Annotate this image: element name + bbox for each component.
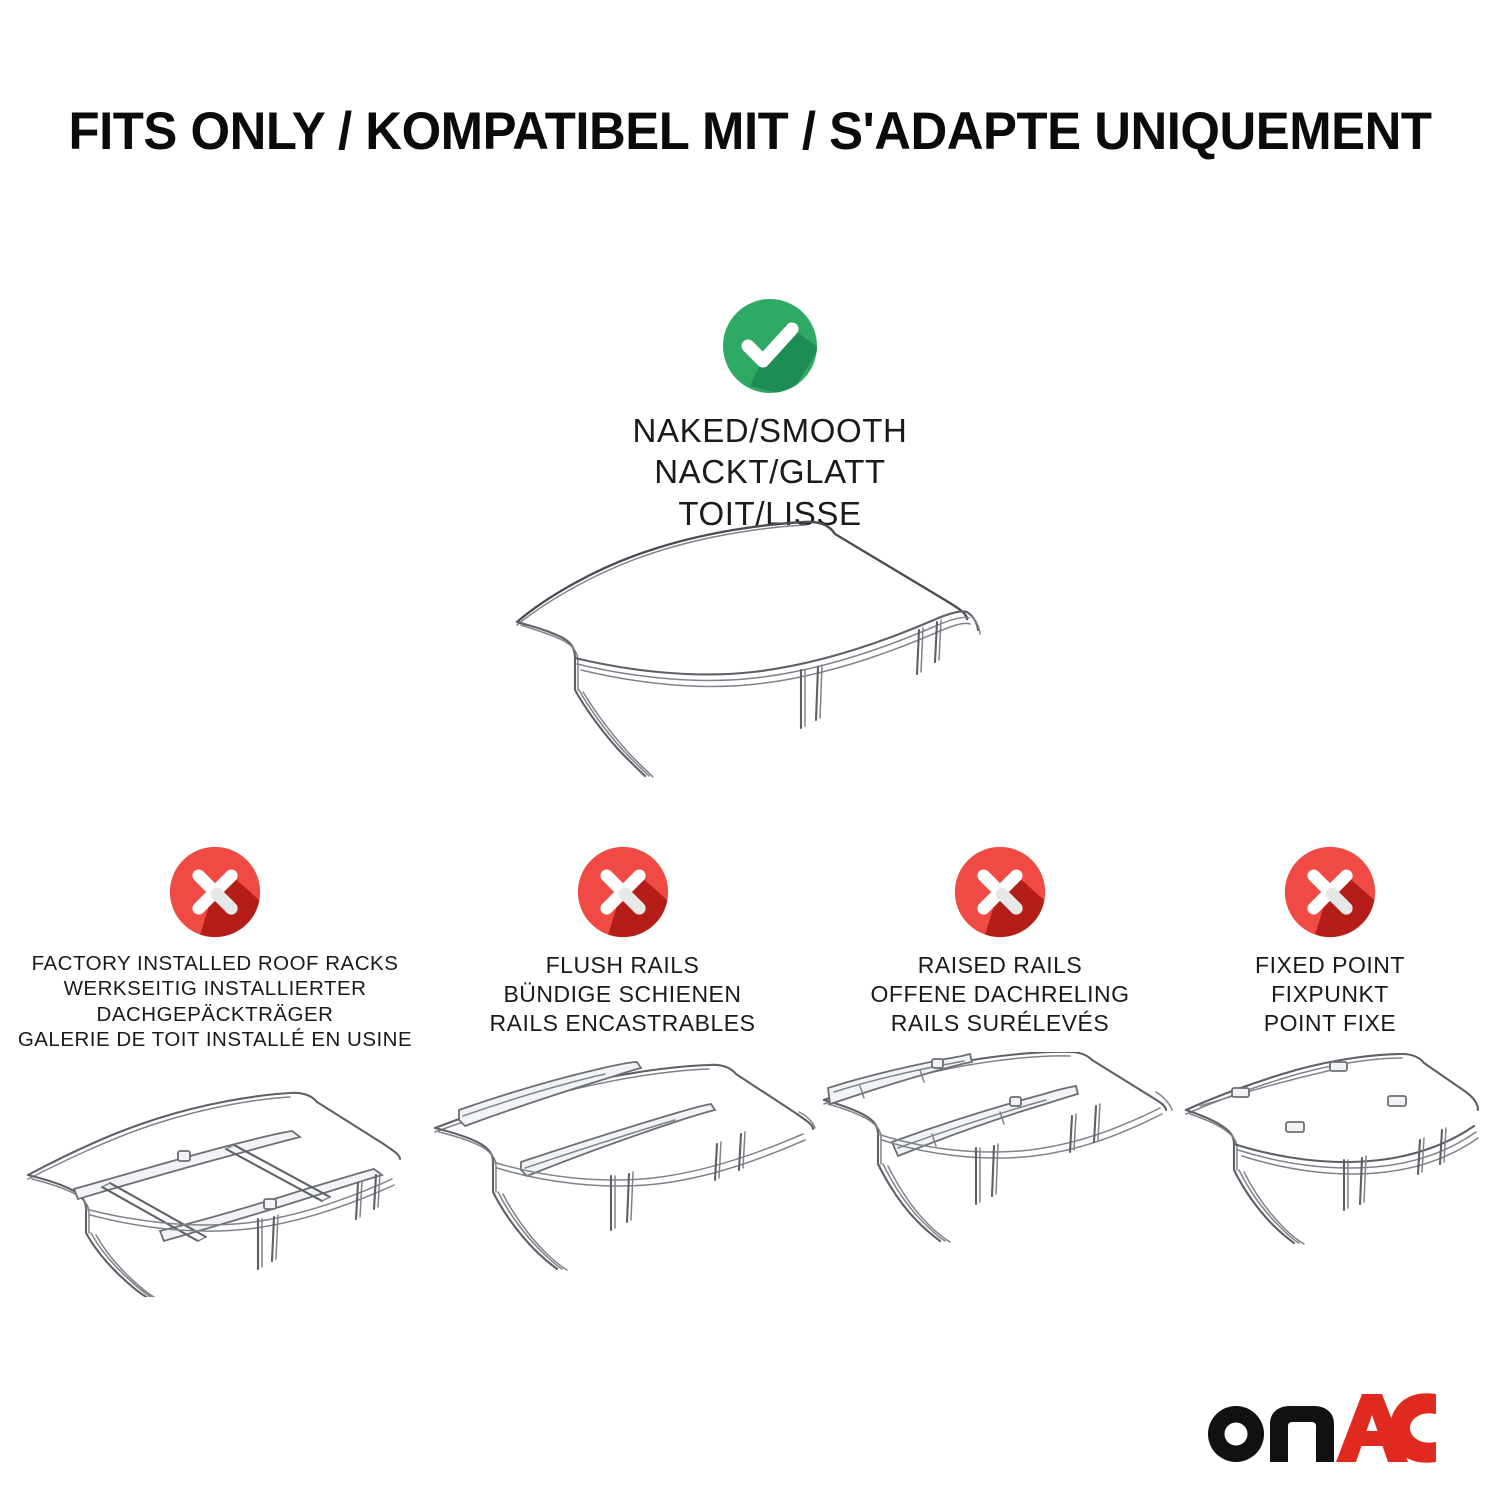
label-line-1: FACTORY INSTALLED ROOF RACKS <box>10 951 420 976</box>
label-line-3: RAILS ENCASTRABLES <box>425 1009 820 1038</box>
incompatible-labels-fixed-point: FIXED POINT FIXPUNKT POINT FIXE <box>1180 951 1480 1038</box>
label-line-3: POINT FIXE <box>1180 1009 1480 1038</box>
incompatible-labels-factory-racks: FACTORY INSTALLED ROOF RACKS WERKSEITIG … <box>10 951 420 1053</box>
label-line-2: BÜNDIGE SCHIENEN <box>425 980 820 1009</box>
car-roof-with-fixed-points-illustration <box>1180 1052 1480 1282</box>
incompatible-column-fixed-point: FIXED POINT FIXPUNKT POINT FIXE <box>1180 840 1480 1282</box>
omac-logo <box>1204 1392 1436 1464</box>
label-line-1: RAISED RAILS <box>820 951 1180 980</box>
incompatible-column-raised-rails: RAISED RAILS OFFENE DACHRELING RAILS SUR… <box>820 840 1180 1282</box>
incompatible-fitments-row: FACTORY INSTALLED ROOF RACKS WERKSEITIG … <box>0 840 1500 1320</box>
label-line-1: FLUSH RAILS <box>425 951 820 980</box>
label-line-3: DACHGEPÄCKTRÄGER <box>10 1002 420 1027</box>
approved-fitment-block: NAKED/SMOOTH NACKT/GLATT TOIT/LISSE <box>450 296 1090 534</box>
cross-circle-icon <box>167 844 263 940</box>
car-roof-with-flush-rails-illustration <box>425 1052 820 1282</box>
cross-circle-icon <box>952 844 1048 940</box>
label-line-2: FIXPUNKT <box>1180 980 1480 1009</box>
label-line-2: OFFENE DACHRELING <box>820 980 1180 1009</box>
label-line-1: FIXED POINT <box>1180 951 1480 980</box>
label-line-3: RAILS SURÉLEVÉS <box>820 1009 1180 1038</box>
logo-letter-o <box>1208 1406 1264 1462</box>
car-roof-with-factory-crossbars-illustration <box>10 1067 420 1297</box>
bare-smooth-car-roof-illustration <box>505 512 1015 802</box>
label-line-4: GALERIE DE TOIT INSTALLÉ EN USINE <box>10 1027 420 1052</box>
incompatible-column-flush-rails: FLUSH RAILS BÜNDIGE SCHIENEN RAILS ENCAS… <box>425 840 820 1282</box>
incompatible-labels-raised-rails: RAISED RAILS OFFENE DACHRELING RAILS SUR… <box>820 951 1180 1038</box>
check-circle-icon <box>720 296 820 396</box>
incompatible-column-factory-racks: FACTORY INSTALLED ROOF RACKS WERKSEITIG … <box>10 840 420 1297</box>
logo-letter-m <box>1270 1406 1334 1462</box>
page-title: FITS ONLY / KOMPATIBEL MIT / S'ADAPTE UN… <box>30 104 1470 160</box>
cross-circle-icon <box>575 844 671 940</box>
incompatible-labels-flush-rails: FLUSH RAILS BÜNDIGE SCHIENEN RAILS ENCAS… <box>425 951 820 1038</box>
cross-circle-icon <box>1282 844 1378 940</box>
car-roof-with-raised-rails-illustration <box>820 1052 1180 1282</box>
approved-label-de: NACKT/GLATT <box>450 451 1090 492</box>
approved-label-en: NAKED/SMOOTH <box>450 410 1090 451</box>
compatibility-chart-page: FITS ONLY / KOMPATIBEL MIT / S'ADAPTE UN… <box>0 0 1500 1500</box>
label-line-2: WERKSEITIG INSTALLIERTER <box>10 976 420 1001</box>
